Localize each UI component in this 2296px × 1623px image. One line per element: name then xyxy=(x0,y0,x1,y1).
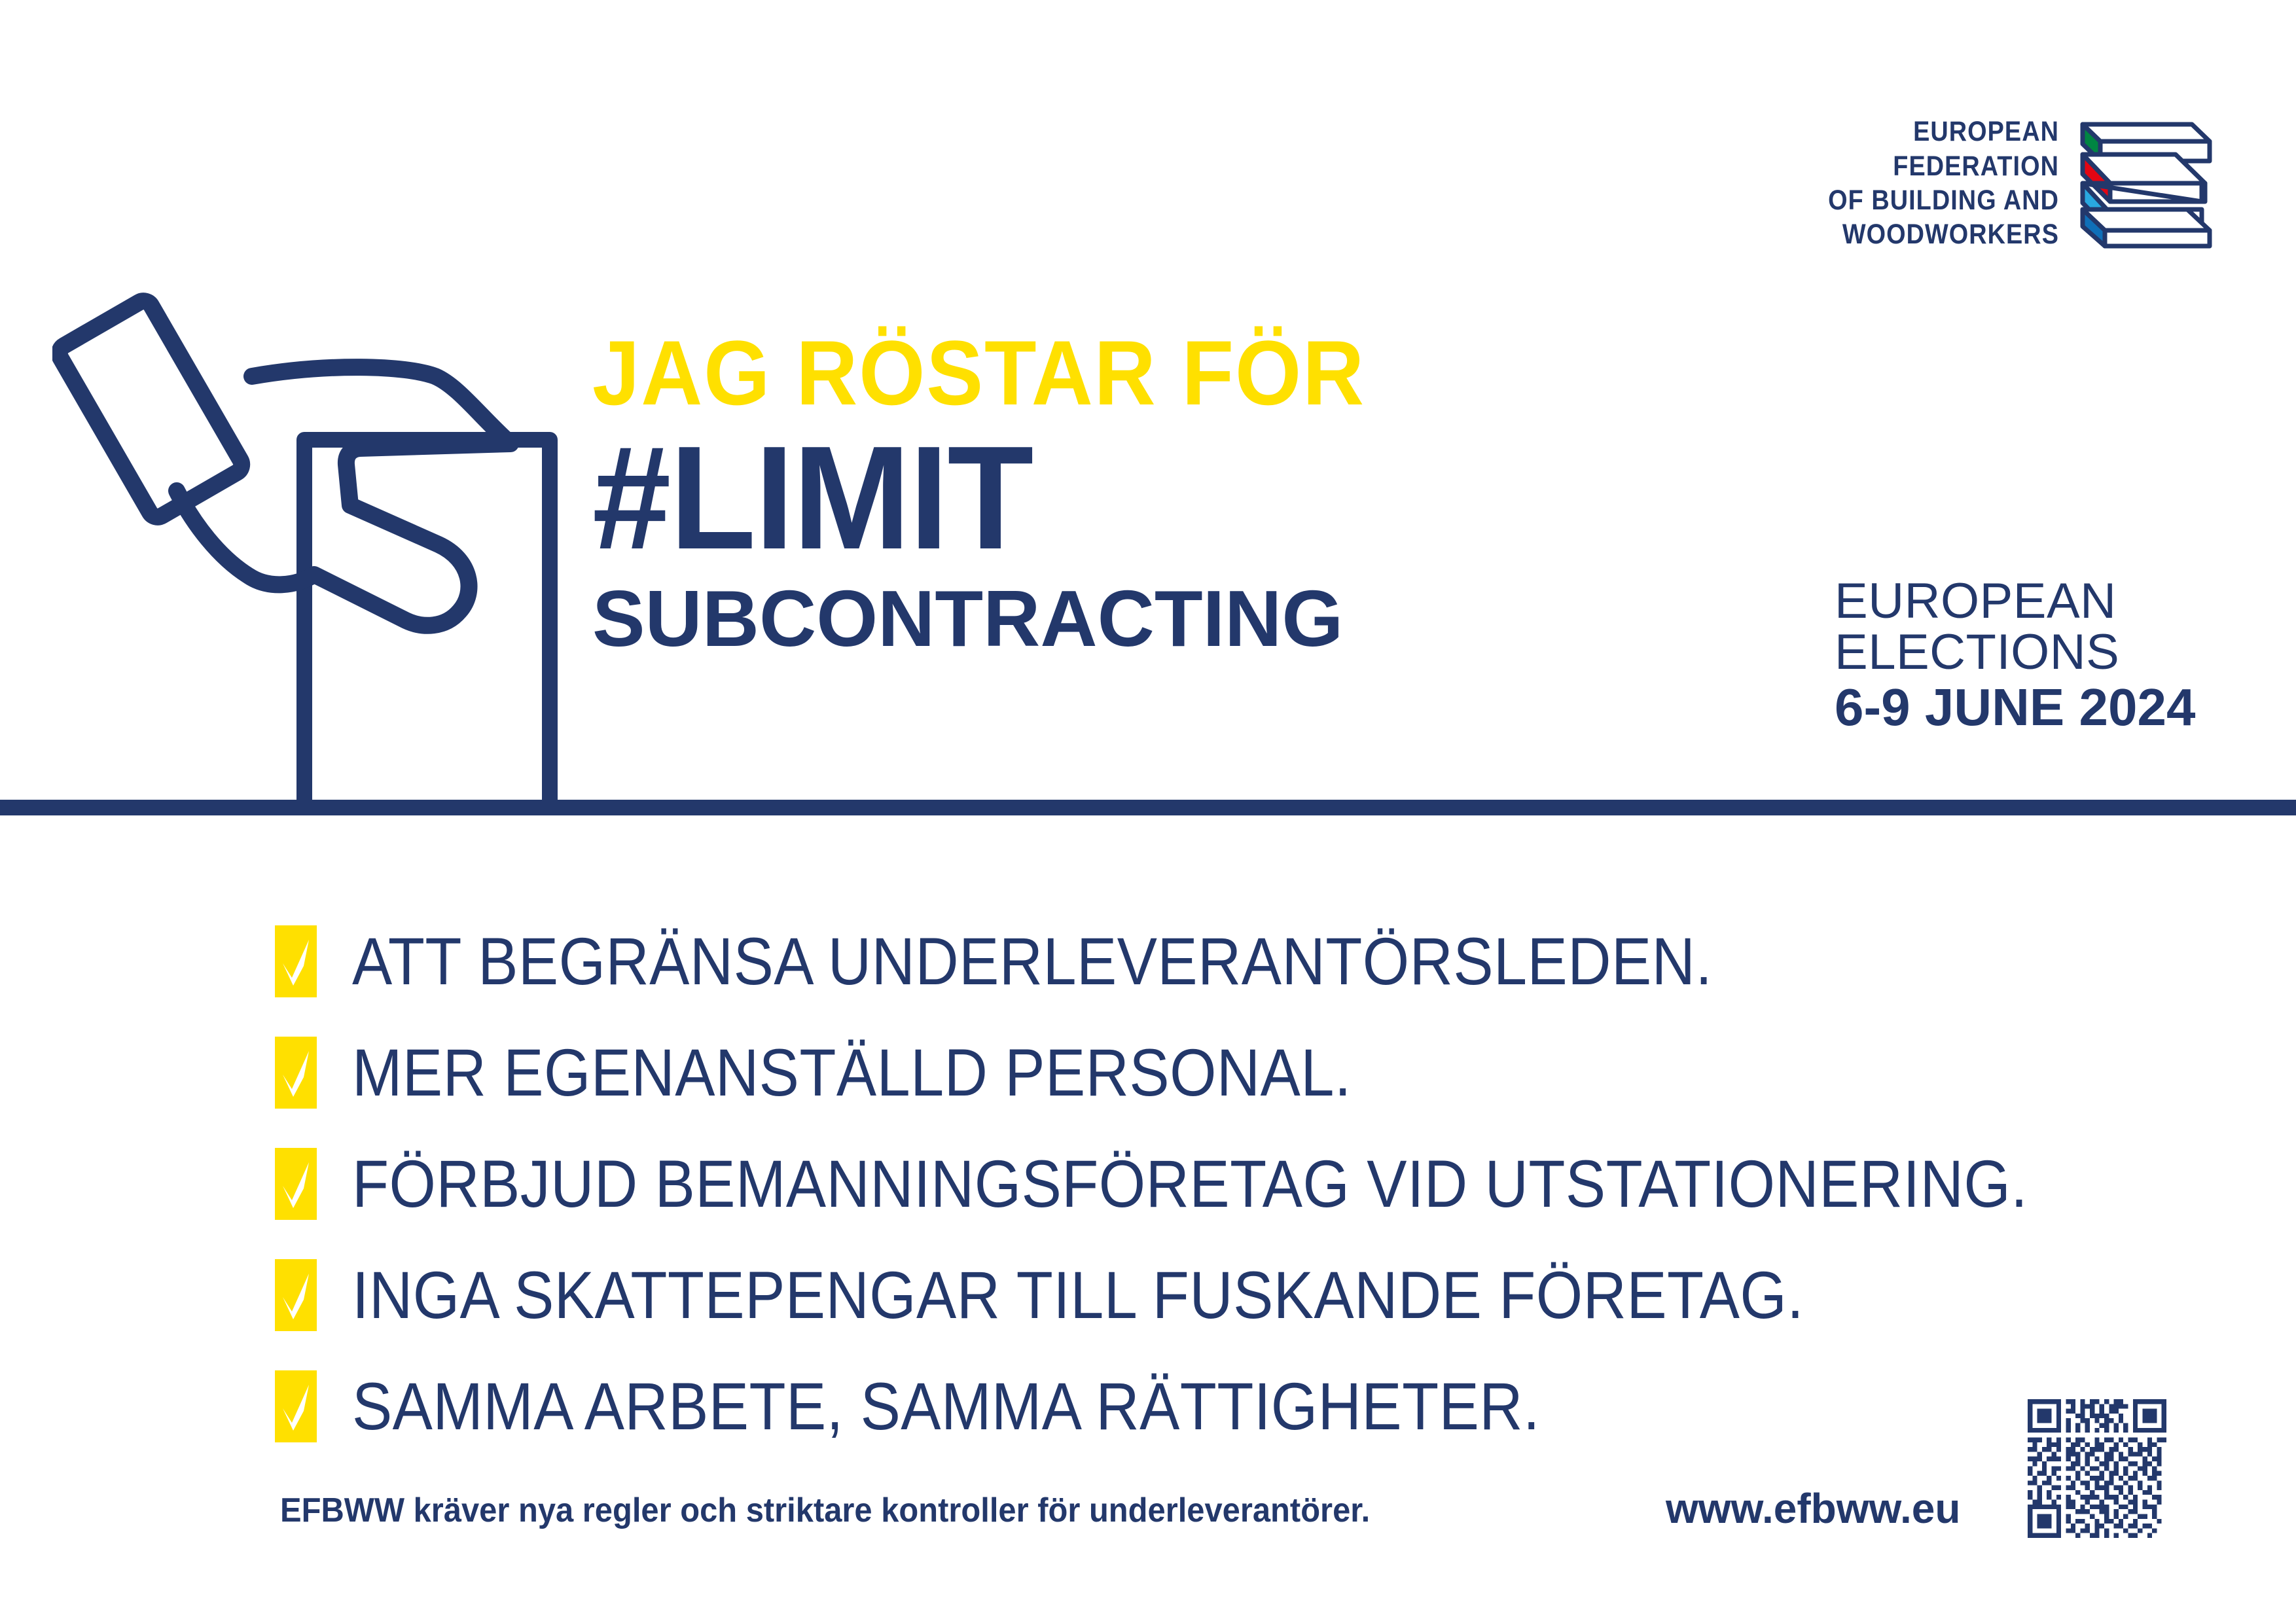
election-date: 6-9 JUNE 2024 xyxy=(1835,680,2201,735)
checkmark-icon xyxy=(275,1259,317,1331)
efbww-logo-wordmark: EUROPEAN FEDERATION OF BUILDING AND WOOD… xyxy=(1828,115,2059,252)
election-info-block: EUROPEAN ELECTIONS 6-9 JUNE 2024 xyxy=(1835,576,2201,735)
list-item-label: ATT BEGRÄNSA UNDERLEVERANTÖRSLEDEN. xyxy=(352,928,1712,995)
checkmark-icon xyxy=(275,1370,317,1442)
website-url[interactable]: www.efbww.eu xyxy=(1666,1484,1960,1533)
list-item-label: INGA SKATTEPENGAR TILL FUSKANDE FÖRETAG. xyxy=(352,1262,1804,1329)
hand-dropping-ballot-into-box-icon xyxy=(52,262,596,805)
logo-line-2: FEDERATION xyxy=(1828,149,2059,183)
checkmark-icon xyxy=(275,925,317,997)
efbww-logo: EUROPEAN FEDERATION OF BUILDING AND WOOD… xyxy=(1797,115,2202,252)
poster-header-section: JAG RÖSTAR FÖR #LIMIT SUBCONTRACTING EUR… xyxy=(0,0,2296,804)
headline-hashtag: #LIMIT xyxy=(592,423,1503,573)
list-item: MER EGENANSTÄLLD PERSONAL. xyxy=(275,1027,2173,1118)
qr-code[interactable] xyxy=(2028,1399,2166,1538)
logo-line-4: WOODWORKERS xyxy=(1828,217,2059,251)
headline-kicker: JAG RÖSTAR FÖR xyxy=(592,327,1475,419)
checkmark-icon xyxy=(275,1148,317,1220)
logo-line-3: OF BUILDING AND xyxy=(1828,183,2059,217)
list-item-label: MER EGENANSTÄLLD PERSONAL. xyxy=(352,1039,1352,1106)
checkmark-icon xyxy=(275,1037,317,1109)
section-divider xyxy=(0,800,2296,815)
headline-subtitle: SUBCONTRACTING xyxy=(592,579,1532,658)
headline-block: JAG RÖSTAR FÖR #LIMIT SUBCONTRACTING xyxy=(592,327,1541,658)
efbww-brick-stack-icon xyxy=(2071,118,2221,249)
poster-canvas: JAG RÖSTAR FÖR #LIMIT SUBCONTRACTING EUR… xyxy=(0,0,2296,1623)
list-item: INGA SKATTEPENGAR TILL FUSKANDE FÖRETAG. xyxy=(275,1250,2173,1340)
list-item-label: SAMMA ARBETE, SAMMA RÄTTIGHETER. xyxy=(352,1373,1540,1440)
footer-note: EFBWW kräver nya regler och striktare ko… xyxy=(280,1491,1370,1530)
logo-line-1: EUROPEAN xyxy=(1828,115,2059,149)
list-item: SAMMA ARBETE, SAMMA RÄTTIGHETER. xyxy=(275,1361,2173,1452)
election-line-european: EUROPEAN xyxy=(1835,576,2201,627)
demands-checklist: ATT BEGRÄNSA UNDERLEVERANTÖRSLEDEN. MER … xyxy=(275,916,2173,1472)
list-item: ATT BEGRÄNSA UNDERLEVERANTÖRSLEDEN. xyxy=(275,916,2173,1007)
list-item: FÖRBJUD BEMANNINGSFÖRETAG VID UTSTATIONE… xyxy=(275,1139,2173,1229)
election-line-elections: ELECTIONS xyxy=(1835,627,2201,678)
list-item-label: FÖRBJUD BEMANNINGSFÖRETAG VID UTSTATIONE… xyxy=(352,1150,2028,1217)
